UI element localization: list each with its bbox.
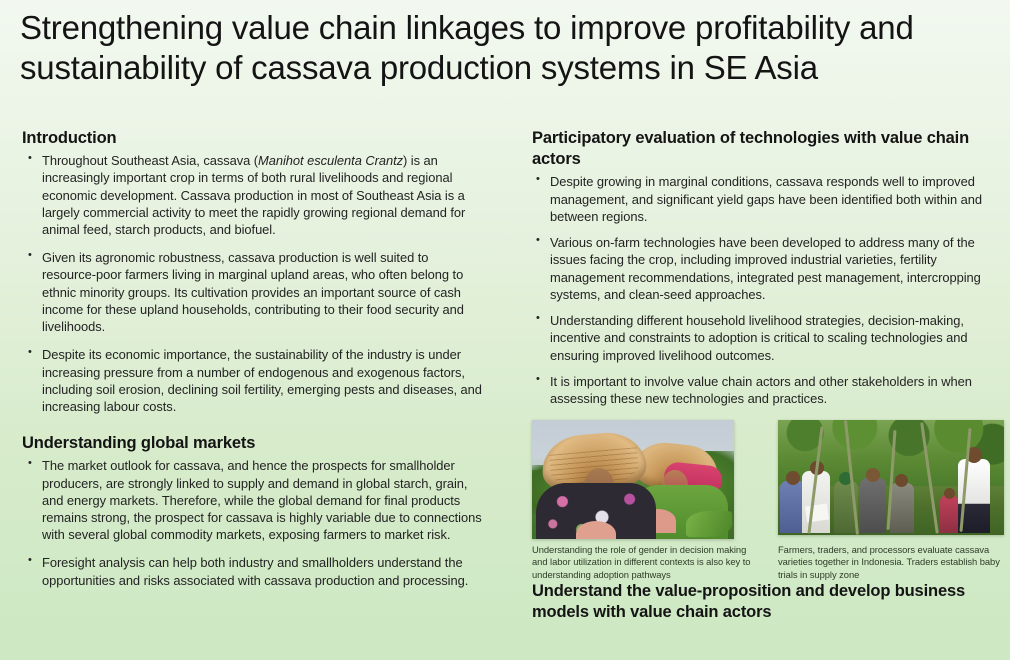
- list-item: Given its agronomic robustness, cassava …: [22, 249, 483, 335]
- left-column: Introduction Throughout Southeast Asia, …: [0, 128, 515, 660]
- list-item: Despite growing in marginal conditions, …: [524, 173, 1004, 225]
- person-figure: [890, 483, 914, 533]
- list-item: Understanding different household liveli…: [524, 312, 1004, 364]
- person-head: [944, 488, 955, 499]
- photo-item-gender-field: Understanding the role of gender in deci…: [532, 420, 751, 582]
- poster-canvas: Strengthening value chain linkages to im…: [0, 0, 1010, 660]
- cassava-leaf: [686, 511, 732, 537]
- title-block: Strengthening value chain linkages to im…: [0, 0, 1010, 87]
- list-item: Various on-farm technologies have been d…: [524, 234, 1004, 303]
- photo-item-traders-plot: Farmers, traders, and processors evaluat…: [778, 420, 1004, 582]
- photo-group-evaluating-varieties: [778, 420, 1004, 535]
- person-head: [895, 474, 908, 487]
- global-markets-bullet-list: The market outlook for cassava, and henc…: [22, 457, 483, 589]
- page-title: Strengthening value chain linkages to im…: [20, 8, 992, 87]
- participatory-bullet-list: Despite growing in marginal conditions, …: [524, 173, 1004, 407]
- photo-row: Understanding the role of gender in deci…: [524, 420, 1004, 582]
- person-head: [786, 471, 800, 485]
- list-item: Foresight analysis can help both industr…: [22, 554, 483, 588]
- person-head: [866, 468, 880, 482]
- list-item: Despite its economic importance, the sus…: [22, 346, 483, 415]
- heading-participatory-evaluation: Participatory evaluation of technologies…: [524, 128, 1004, 170]
- content-columns: Introduction Throughout Southeast Asia, …: [0, 128, 1010, 660]
- heading-value-proposition: Understand the value-proposition and dev…: [524, 581, 1004, 623]
- introduction-bullet-list: Throughout Southeast Asia, cassava (Mani…: [22, 152, 483, 415]
- right-column: Participatory evaluation of technologies…: [515, 128, 1010, 660]
- heading-understanding-global-markets: Understanding global markets: [22, 433, 483, 454]
- scientific-name: Manihot esculenta Crantz: [258, 153, 403, 168]
- photo-caption: Farmers, traders, and processors evaluat…: [778, 544, 1004, 582]
- list-item: It is important to involve value chain a…: [524, 373, 1004, 408]
- heading-introduction: Introduction: [22, 128, 483, 149]
- list-item: Throughout Southeast Asia, cassava (Mani…: [22, 152, 483, 238]
- photo-women-cassava-field: [532, 420, 734, 539]
- person-figure: [940, 495, 958, 533]
- photo-caption: Understanding the role of gender in deci…: [532, 544, 751, 582]
- list-item: The market outlook for cassava, and henc…: [22, 457, 483, 543]
- person-figure: [860, 478, 886, 533]
